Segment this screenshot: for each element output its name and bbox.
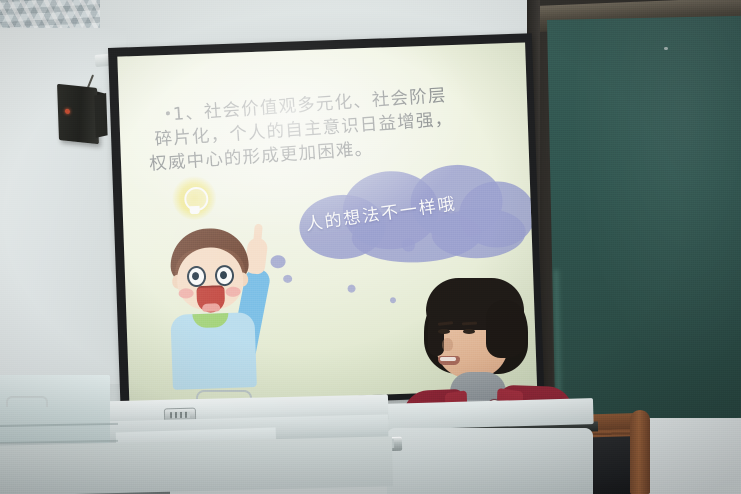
presenter-mouth	[438, 356, 460, 365]
left-wall	[0, 28, 126, 384]
slide-body-text: 1、社会价值观多元化、社会阶层 碎片化，个人的自主意识日益增强， 权威中心的形成…	[148, 69, 523, 172]
lightbulb-base-icon	[190, 206, 200, 214]
boy-mouth	[196, 285, 225, 313]
decor-dot	[347, 285, 355, 293]
wall-speaker-icon	[57, 84, 99, 144]
classroom-photo: 1、社会价值观多元化、社会阶层 碎片化，个人的自主意识日益增强， 权威中心的形成…	[0, 0, 741, 494]
chalk-mark	[664, 47, 668, 50]
presenter-nose	[442, 338, 453, 351]
cartoon-boy-illustration	[159, 171, 296, 390]
presenter-eye	[438, 329, 450, 334]
speaker-led-icon	[65, 109, 70, 115]
decor-dot	[390, 297, 396, 303]
console-lower-body	[0, 436, 393, 494]
side-cabinet[interactable]	[0, 375, 110, 443]
cabinet-handle-icon[interactable]	[6, 396, 48, 407]
chair-armrest[interactable]	[630, 410, 650, 494]
console-right-panel[interactable]	[387, 428, 593, 494]
presenter-eye	[463, 329, 475, 334]
bullet-icon	[166, 111, 170, 115]
